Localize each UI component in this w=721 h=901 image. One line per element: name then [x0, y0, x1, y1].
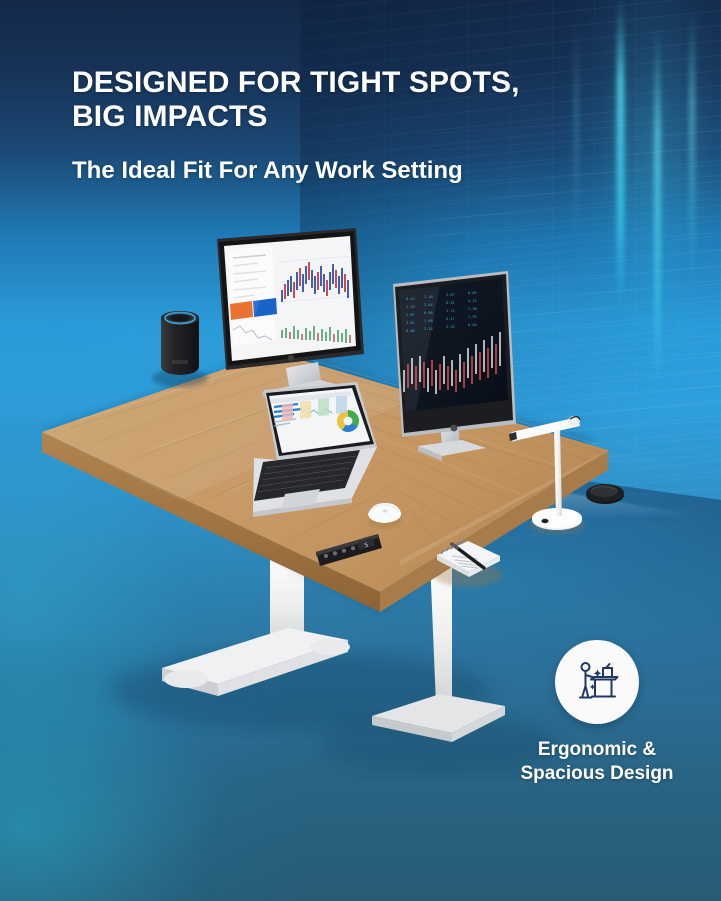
svg-text:4.12: 4.12	[468, 299, 477, 303]
svg-text:0.47: 0.47	[446, 317, 455, 321]
svg-text:1.74: 1.74	[446, 309, 455, 313]
lamp-switch-icon	[541, 519, 548, 523]
badge-label-line-1: Ergonomic &	[497, 738, 697, 762]
svg-text:0.64: 0.64	[468, 323, 477, 327]
product-banner: DESIGNED FOR TIGHT SPOTS, BIG IMPACTS Th…	[0, 0, 721, 901]
svg-text:2.38: 2.38	[468, 307, 477, 311]
svg-text:1.92: 1.92	[468, 315, 477, 319]
webcam-icon	[451, 425, 458, 432]
svg-text:3.07: 3.07	[446, 293, 455, 297]
badge-label-line-2: Spacious Design	[497, 762, 697, 786]
wireless-mouse	[368, 503, 402, 528]
cable-grommet	[586, 484, 624, 504]
badge-label: Ergonomic & Spacious Design	[497, 738, 697, 786]
badge-icon-circle	[555, 640, 639, 724]
person-at-standing-desk-icon	[570, 655, 624, 709]
pie-chart	[337, 410, 359, 432]
svg-text:3.33: 3.33	[446, 325, 455, 329]
smart-speaker	[152, 311, 208, 387]
svg-text:0.85: 0.85	[468, 291, 477, 295]
webcam-icon	[288, 355, 294, 361]
svg-text:0.91: 0.91	[446, 301, 455, 305]
feature-badge: Ergonomic & Spacious Design	[497, 640, 697, 786]
